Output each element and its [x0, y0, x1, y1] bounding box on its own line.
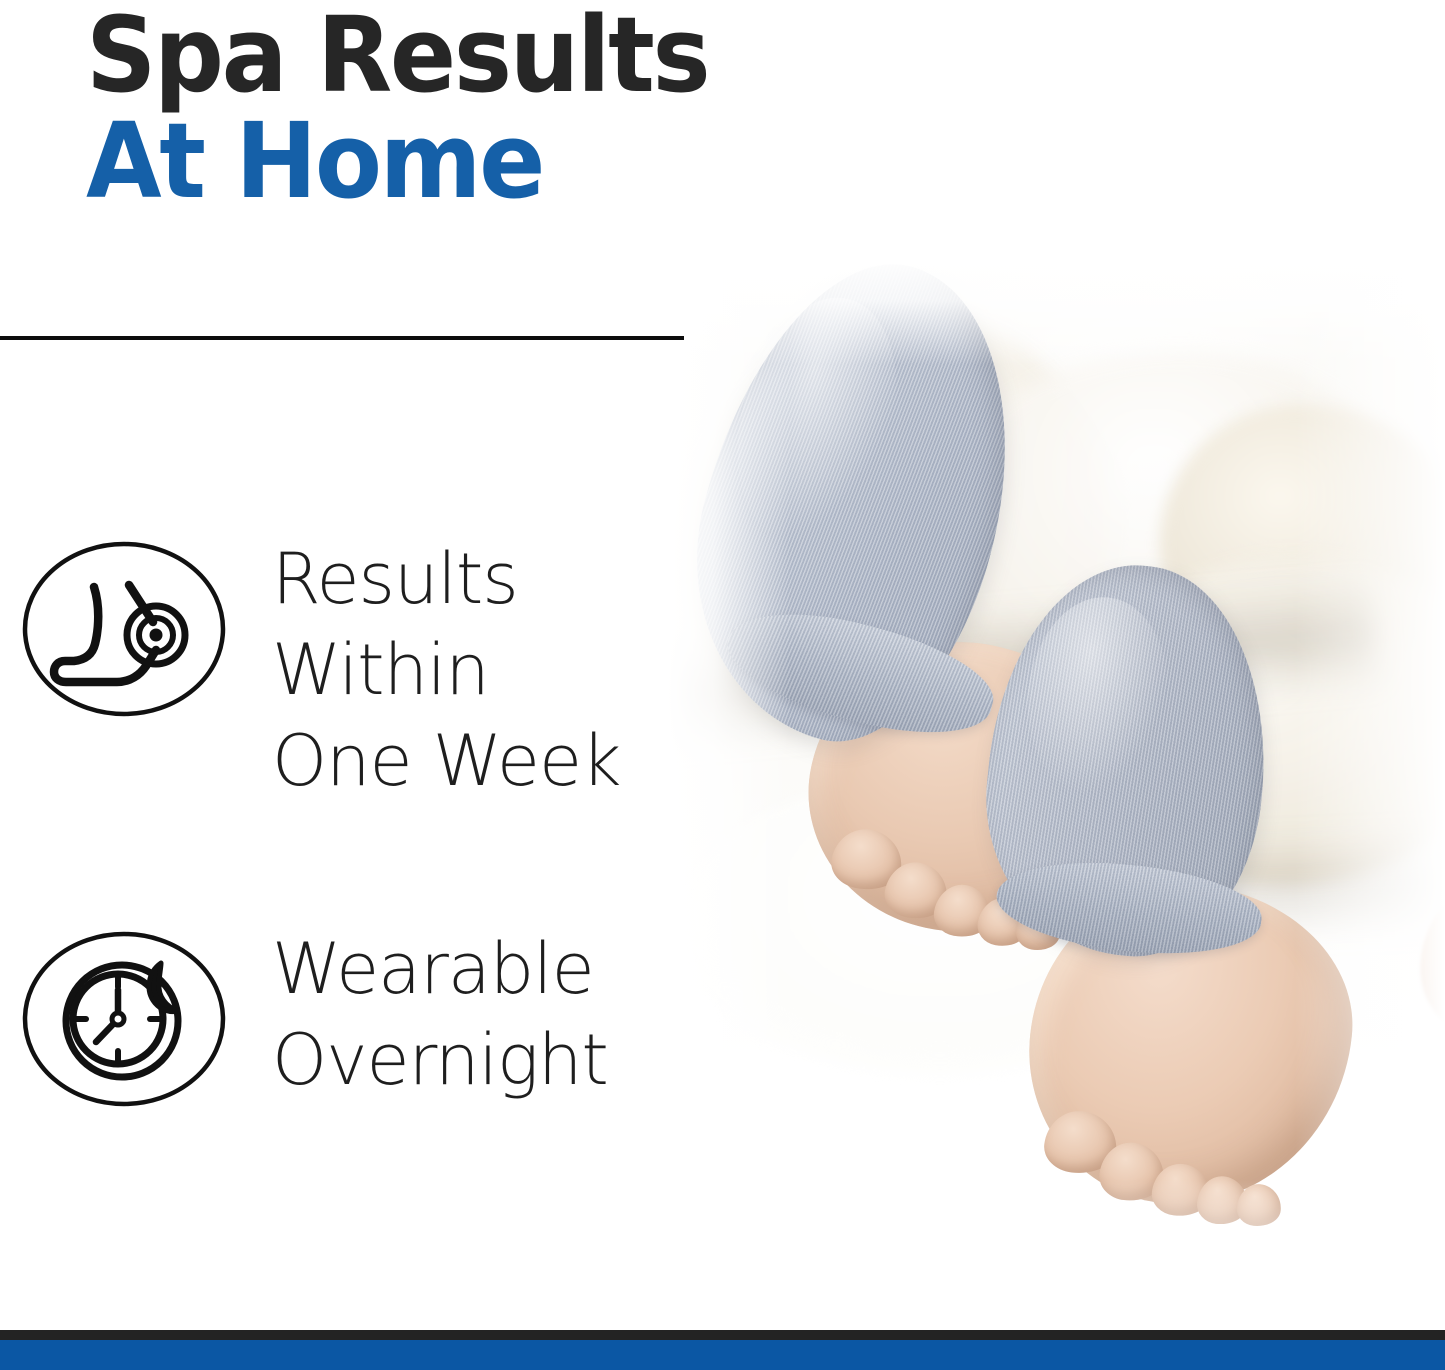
headline-divider [0, 336, 684, 340]
footer-blue-bar [0, 1340, 1445, 1370]
feature-results-within-one-week: Results Within One Week [22, 540, 621, 807]
headline-line-2: At Home [86, 112, 708, 212]
photo-inner [620, 255, 1445, 1330]
headline-line-1: Spa Results [86, 6, 708, 106]
photo-fade-right [1295, 255, 1445, 1330]
headline: Spa Results At Home [86, 6, 748, 212]
feature-label: Wearable Overnight [272, 924, 608, 1106]
feature-label: Results Within One Week [272, 534, 621, 807]
photo-fade-bottom [620, 1180, 1445, 1330]
footer-dark-bar [0, 1330, 1445, 1340]
product-photo [620, 255, 1445, 1330]
clock-moon-icon [22, 930, 226, 1108]
foot-target-icon [22, 540, 226, 718]
photo-fade-left [620, 255, 790, 1330]
feature-wearable-overnight: Wearable Overnight [22, 930, 608, 1108]
